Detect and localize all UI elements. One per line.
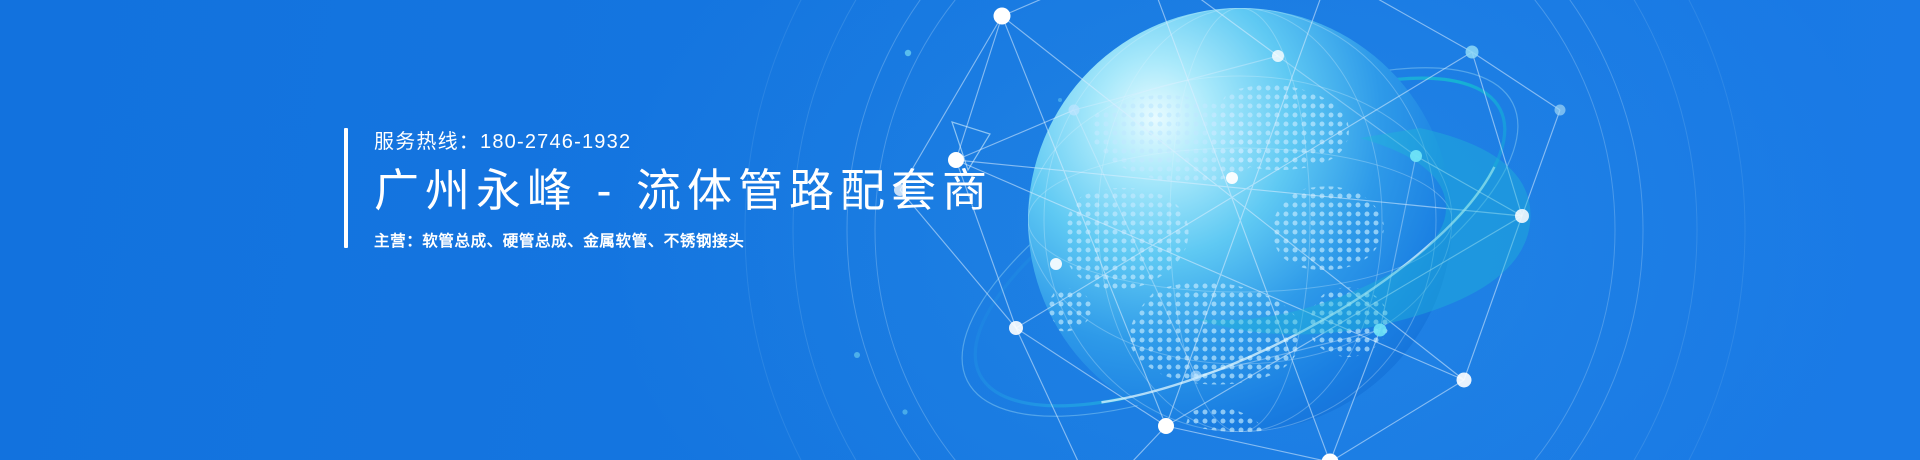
banner-headline: 广州永峰 - 流体管路配套商 — [374, 162, 993, 220]
hero-banner: 服务热线：180-2746-1932 广州永峰 - 流体管路配套商 主营：软管总… — [0, 0, 1920, 460]
accent-bar — [344, 128, 348, 248]
service-hotline: 服务热线：180-2746-1932 — [374, 130, 993, 154]
banner-subtitle: 主营：软管总成、硬管总成、金属软管、不锈钢接头 — [374, 232, 993, 252]
banner-text-block: 服务热线：180-2746-1932 广州永峰 - 流体管路配套商 主营：软管总… — [344, 128, 993, 248]
